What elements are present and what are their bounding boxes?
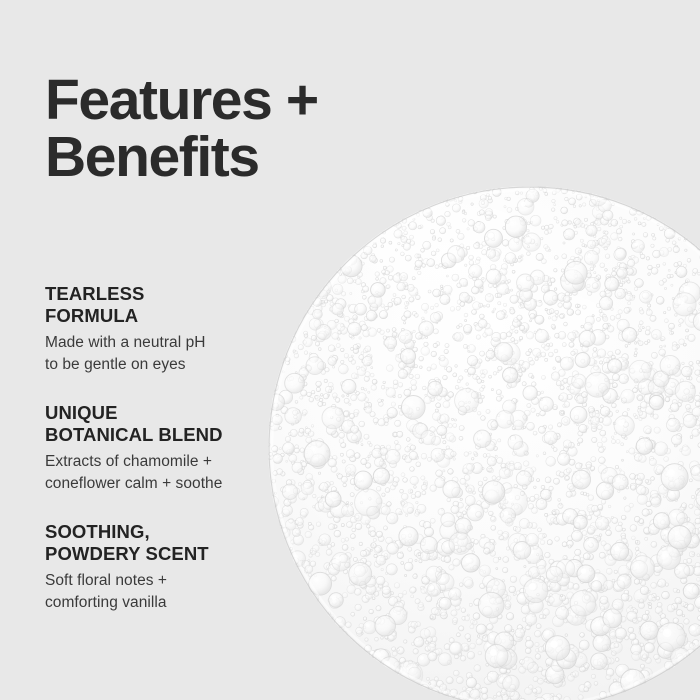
feature-heading: UNIQUE BOTANICAL BLEND <box>45 402 345 446</box>
feature-body: Made with a neutral pH to be gentle on e… <box>45 332 345 376</box>
page-title: Features + Benefits <box>45 72 318 186</box>
product-feature-panel: Features + Benefits TEARLESS FORMULA Mad… <box>0 0 700 700</box>
text-column: Features + Benefits TEARLESS FORMULA Mad… <box>45 0 345 700</box>
feature-heading: TEARLESS FORMULA <box>45 283 345 327</box>
feature-list: TEARLESS FORMULA Made with a neutral pH … <box>45 283 345 614</box>
feature-item-unique-botanical-blend: UNIQUE BOTANICAL BLEND Extracts of chamo… <box>45 402 345 495</box>
feature-body: Soft floral notes + comforting vanilla <box>45 570 345 614</box>
feature-body: Extracts of chamomile + coneflower calm … <box>45 451 345 495</box>
feature-heading: SOOTHING, POWDERY SCENT <box>45 521 345 565</box>
feature-item-soothing-powdery-scent: SOOTHING, POWDERY SCENT Soft floral note… <box>45 521 345 614</box>
feature-item-tearless-formula: TEARLESS FORMULA Made with a neutral pH … <box>45 283 345 376</box>
